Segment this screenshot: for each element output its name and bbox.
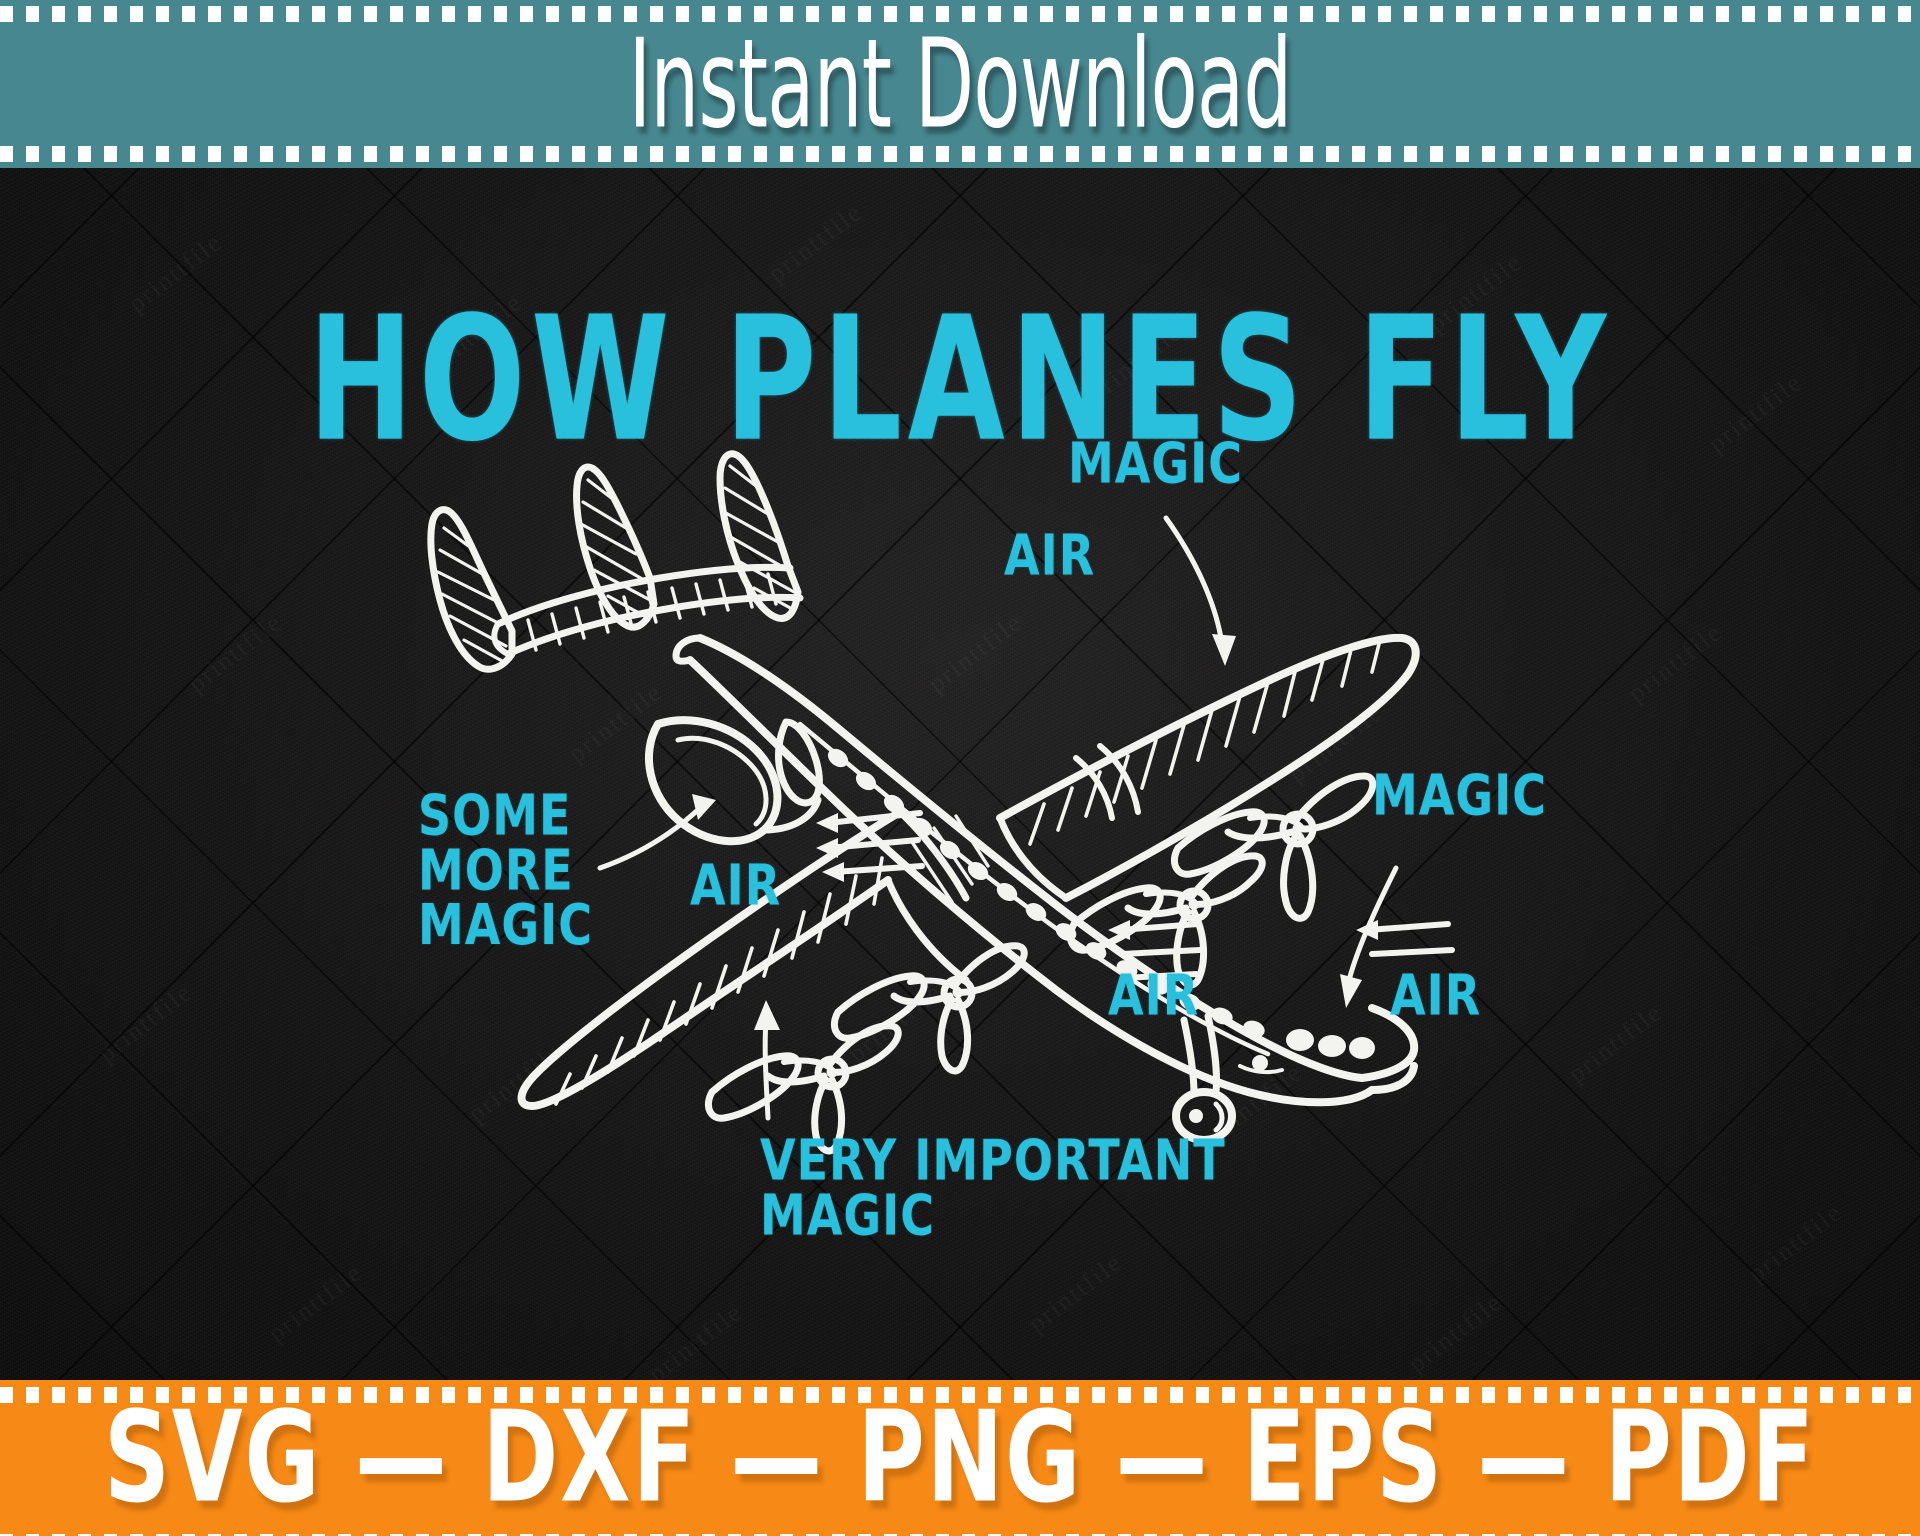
instant-download-label: Instant Download	[628, 12, 1291, 156]
instant-download-banner: Instant Download	[0, 0, 1920, 168]
label-air-right: AIR	[1390, 968, 1481, 1023]
design-graphic: HOW PLANES FLY	[0, 168, 1920, 1380]
file-formats-banner: SVG — DXF — PNG — EPS — PDF	[0, 1380, 1920, 1536]
label-air-top: AIR	[1004, 528, 1095, 583]
cockpit-windows	[1286, 1029, 1375, 1059]
label-magic-right: MAGIC	[1372, 768, 1547, 823]
file-formats-label: SVG — DXF — PNG — EPS — PDF	[104, 1385, 1816, 1531]
label-air-bottom: AIR	[1108, 968, 1199, 1023]
label-magic-top: MAGIC	[1068, 436, 1243, 491]
tail-assembly	[431, 454, 800, 669]
airplane-illustration	[0, 168, 1920, 1380]
tshirt-artwork-area: printtfile printtfile printtfile printtf…	[0, 168, 1920, 1380]
label-some-more-magic: SOME MORE MAGIC	[418, 788, 593, 953]
fuselage	[676, 638, 1414, 1102]
dorsal-fairing	[649, 720, 819, 841]
product-listing-image: Instant Download printtfile printtfile p…	[0, 0, 1920, 1536]
label-air-mid: AIR	[690, 858, 781, 913]
